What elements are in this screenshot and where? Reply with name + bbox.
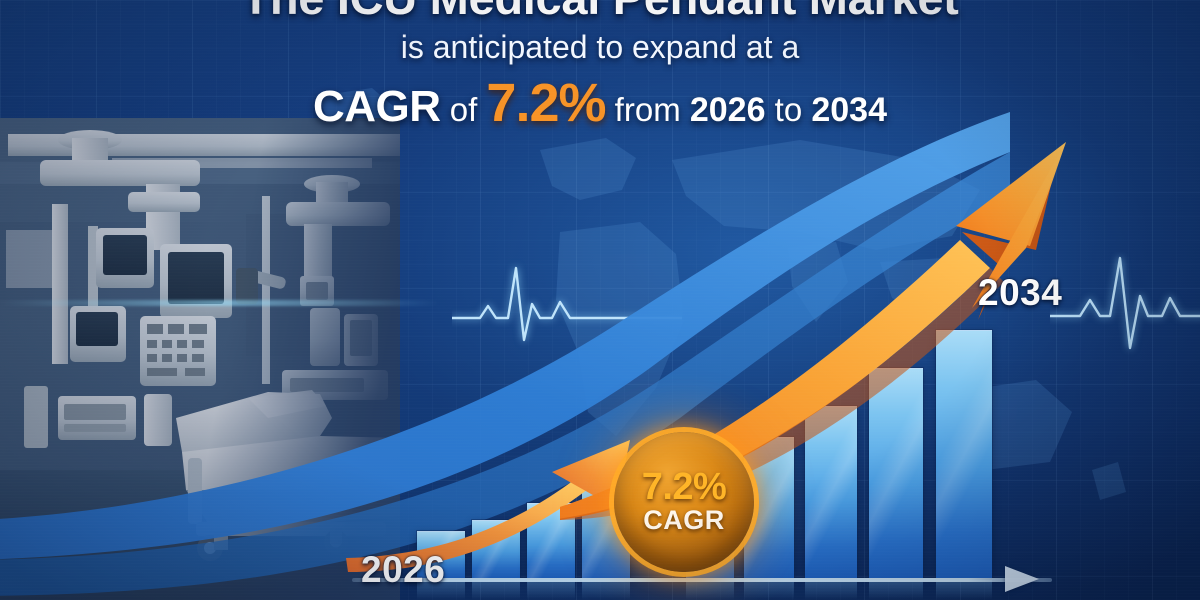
- bar-2027: [472, 520, 520, 578]
- chart-baseline-axis: [352, 578, 1052, 582]
- bar-reflection: [744, 580, 794, 600]
- year-label-start: 2026: [361, 549, 445, 591]
- bar-reflection: [686, 580, 734, 600]
- headline-block: The ICU Medical Pendant Market is antici…: [0, 0, 1200, 134]
- bar-2033: [869, 368, 923, 578]
- headline-cagr-line: CAGR of 7.2% from 2026 to 2034: [0, 73, 1200, 133]
- headline-subline: is anticipated to expand at a: [0, 30, 1200, 65]
- bar-reflection: [936, 580, 992, 600]
- bar-reflection: [472, 580, 520, 600]
- bar-reflection: [805, 580, 857, 600]
- bar-reflection: [582, 580, 630, 600]
- headline-year-to: 2034: [811, 91, 887, 129]
- bar-reflection: [527, 580, 575, 600]
- bar-2032: [805, 406, 857, 578]
- year-label-end: 2034: [978, 272, 1062, 314]
- headline-to-word: to: [766, 91, 812, 128]
- axis-arrow-icon: [1005, 566, 1039, 592]
- headline-year-from: 2026: [690, 91, 766, 129]
- cagr-badge: 7.2% CAGR: [614, 432, 754, 572]
- infographic-canvas: 7.2% CAGR 2026 2034 The ICU Medical Pend…: [0, 0, 1200, 600]
- cagr-badge-percent: 7.2%: [642, 469, 727, 506]
- page-title: The ICU Medical Pendant Market: [0, 0, 1200, 23]
- headline-from-word: from: [606, 91, 690, 128]
- bar-2028: [527, 503, 575, 578]
- bar-2034: [936, 330, 992, 578]
- headline-cagr-word: CAGR: [313, 82, 441, 131]
- bar-reflection: [869, 580, 923, 600]
- headline-of-word: of: [441, 91, 487, 128]
- headline-cagr-value: 7.2%: [486, 73, 605, 133]
- cagr-badge-label: CAGR: [643, 506, 725, 534]
